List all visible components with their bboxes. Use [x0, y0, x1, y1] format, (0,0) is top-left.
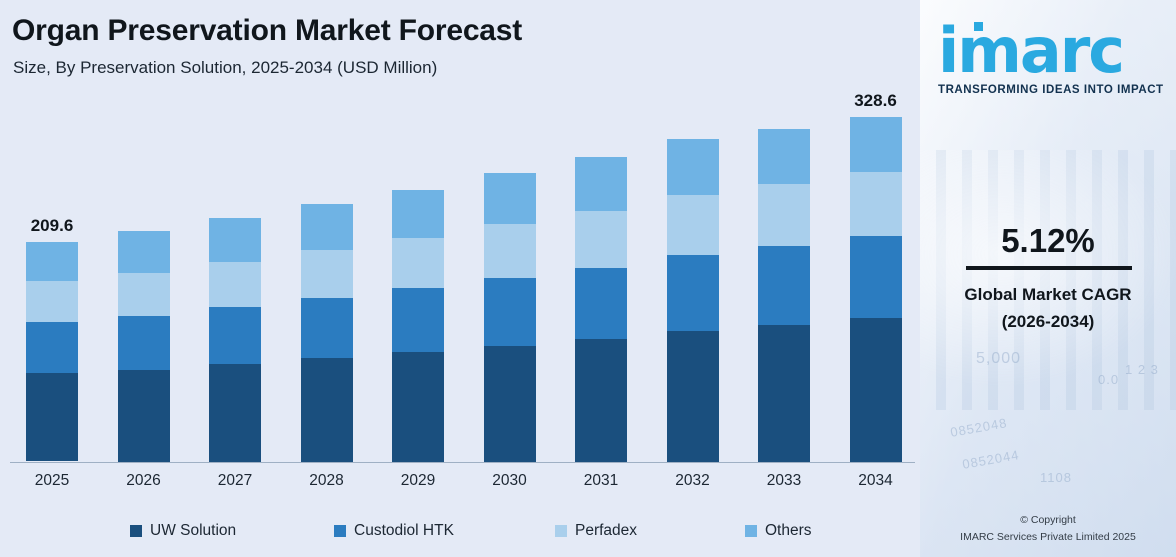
ghost-number-2: 1 2 3: [1125, 362, 1159, 377]
branding-panel: 5,000 0.0 1 2 3 0852048 0852044 1108 ima…: [920, 0, 1176, 557]
x-axis-tick-label: 2034: [836, 472, 916, 490]
bar-segment[interactable]: [26, 281, 78, 322]
bar-group[interactable]: [118, 231, 170, 462]
bar-segment[interactable]: [850, 318, 902, 462]
cagr-label-primary: Global Market CAGR: [920, 285, 1176, 305]
legend-swatch-icon: [555, 525, 567, 537]
bar-segment[interactable]: [667, 195, 719, 255]
bar-segment[interactable]: [118, 316, 170, 370]
bar-segment[interactable]: [209, 307, 261, 364]
bar-segment[interactable]: [392, 352, 444, 462]
bar-segment[interactable]: [209, 262, 261, 307]
legend-label: Custodiol HTK: [354, 522, 454, 540]
bar-segment[interactable]: [758, 129, 810, 184]
bar-group[interactable]: [301, 204, 353, 462]
bar-segment[interactable]: [758, 246, 810, 325]
legend-swatch-icon: [130, 525, 142, 537]
copyright-line-1: © Copyright: [920, 514, 1176, 526]
legend-item[interactable]: Perfadex: [555, 522, 637, 540]
bar-segment[interactable]: [301, 250, 353, 298]
logo-dot-icon: [974, 22, 983, 31]
bar-group[interactable]: 328.6: [850, 117, 902, 462]
bar-segment[interactable]: [392, 238, 444, 288]
bar-segment[interactable]: [667, 139, 719, 195]
ghost-number-1: 0.0: [1098, 372, 1119, 387]
bar-segment[interactable]: [667, 255, 719, 331]
bar-group[interactable]: [484, 173, 536, 462]
bar-segment[interactable]: [392, 288, 444, 352]
legend-item[interactable]: Others: [745, 522, 812, 540]
bar-segment[interactable]: [850, 236, 902, 318]
bar-value-label: 209.6: [31, 216, 74, 236]
bar-segment[interactable]: [301, 298, 353, 358]
plot-area: 209.6328.6: [0, 100, 920, 462]
bar-segment[interactable]: [118, 370, 170, 463]
bar-segment[interactable]: [484, 346, 536, 462]
x-axis-tick-label: 2027: [195, 472, 275, 490]
bar-segment[interactable]: [118, 231, 170, 273]
bar-segment[interactable]: [26, 322, 78, 373]
x-axis-tick-label: 2032: [653, 472, 733, 490]
bar-segment[interactable]: [301, 204, 353, 250]
chart-legend: UW SolutionCustodiol HTKPerfadexOthers: [0, 518, 920, 546]
bar-segment[interactable]: [850, 117, 902, 172]
x-axis-tick-label: 2033: [744, 472, 824, 490]
bar-segment[interactable]: [575, 339, 627, 463]
bar-value-label: 328.6: [854, 91, 897, 111]
imarc-logo: imarc TRANSFORMING IDEAS INTO IMPACT: [938, 20, 1166, 96]
bar-segment[interactable]: [118, 273, 170, 316]
legend-swatch-icon: [334, 525, 346, 537]
bar-segment[interactable]: [301, 358, 353, 462]
cagr-divider: [966, 266, 1132, 270]
bar-segment[interactable]: [209, 364, 261, 462]
bar-segment[interactable]: [850, 172, 902, 236]
x-axis-line: [10, 462, 915, 463]
x-axis-tick-label: 2028: [287, 472, 367, 490]
page-title: Organ Preservation Market Forecast: [12, 14, 522, 48]
x-axis-tick-label: 2026: [104, 472, 184, 490]
legend-label: Perfadex: [575, 522, 637, 540]
bar-segment[interactable]: [758, 184, 810, 246]
legend-item[interactable]: Custodiol HTK: [334, 522, 454, 540]
bar-segment[interactable]: [575, 211, 627, 268]
bar-group[interactable]: 209.6: [26, 242, 78, 462]
legend-label: UW Solution: [150, 522, 236, 540]
x-axis-tick-label: 2029: [378, 472, 458, 490]
cagr-value: 5.12%: [920, 222, 1176, 260]
legend-swatch-icon: [745, 525, 757, 537]
bar-segment[interactable]: [575, 268, 627, 339]
bar-group[interactable]: [392, 190, 444, 462]
x-axis-tick-label: 2031: [561, 472, 641, 490]
chart-panel: Organ Preservation Market Forecast Size,…: [0, 0, 920, 557]
x-axis-tick-label: 2030: [470, 472, 550, 490]
bar-group[interactable]: [667, 139, 719, 462]
bar-group[interactable]: [209, 218, 261, 462]
bar-segment[interactable]: [484, 173, 536, 224]
bar-segment[interactable]: [758, 325, 810, 462]
cagr-label-period: (2026-2034): [920, 312, 1176, 332]
legend-label: Others: [765, 522, 812, 540]
bar-segment[interactable]: [26, 373, 78, 461]
logo-tagline: TRANSFORMING IDEAS INTO IMPACT: [938, 84, 1166, 96]
copyright-line-2: IMARC Services Private Limited 2025: [920, 531, 1176, 543]
bar-segment[interactable]: [26, 242, 78, 281]
legend-item[interactable]: UW Solution: [130, 522, 236, 540]
ghost-number-5: 1108: [1040, 470, 1072, 485]
ghost-number-0: 5,000: [976, 350, 1021, 368]
bar-segment[interactable]: [484, 278, 536, 346]
bar-group[interactable]: [758, 129, 810, 462]
bar-segment[interactable]: [484, 224, 536, 278]
page-subtitle: Size, By Preservation Solution, 2025-203…: [13, 58, 437, 78]
bar-segment[interactable]: [209, 218, 261, 262]
logo-wordmark: imarc: [938, 20, 1166, 82]
bar-segment[interactable]: [392, 190, 444, 238]
bar-segment[interactable]: [667, 331, 719, 462]
bar-group[interactable]: [575, 157, 627, 462]
bar-segment[interactable]: [575, 157, 627, 211]
x-axis-tick-label: 2025: [12, 472, 92, 490]
chart-page: Organ Preservation Market Forecast Size,…: [0, 0, 1176, 557]
